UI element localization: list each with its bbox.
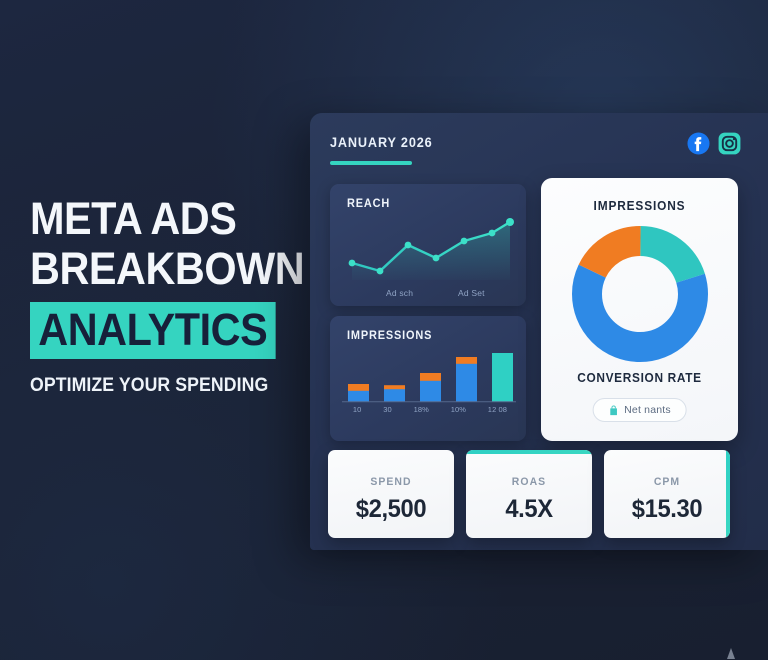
stat-card-cpm[interactable]: CPM $15.30 [604,450,730,538]
reach-card-title: REACH [347,198,390,210]
donut-card-subtitle: CONVERSION RATE [546,371,733,385]
donut-card-title: IMPRESSIONS [546,199,733,213]
conversion-donut-card: IMPRESSIONS CONVERSION RATE Net nants [541,178,738,441]
headline-highlight-wrap: ANALYTICS [30,302,298,359]
headline-highlight: ANALYTICS [30,302,276,359]
period-label: JANUARY 2026 [330,135,433,150]
impressions-bar-card: IMPRESSIONS 10 30 18% 10% 12 08 [330,316,526,441]
donut-chart [570,224,710,364]
reach-line-chart [338,214,518,286]
stat-value-spend: $2,500 [331,495,451,524]
roas-accent-bar [466,450,592,454]
bar-label-2: 18% [414,405,429,414]
dashboard-panel: JANUARY 2026 REACH [310,113,768,550]
impressions-bar-labels: 10 30 18% 10% 12 08 [342,405,518,414]
headline-block: META ADS BREAKBOWN ANALYTICS OPTIMIZE YO… [30,196,298,397]
headline-line-2: BREAKBOWN [30,246,277,292]
stat-value-roas: 4.5X [469,495,589,524]
headline-subtitle: OPTIMIZE YOUR SPENDING [30,375,279,397]
stat-value-cpm: $15.30 [607,495,727,524]
bar-label-1: 30 [383,405,392,414]
net-nants-label: Net nants [624,404,671,416]
stat-card-roas[interactable]: ROAS 4.5X [466,450,592,538]
reach-axis-label-1: Ad sch [386,288,413,298]
period-underline [330,161,412,165]
bar-label-3: 10% [451,405,466,414]
headline-line-1: META ADS [30,196,277,242]
instagram-icon[interactable] [718,132,741,155]
dashboard-header: JANUARY 2026 [330,134,750,178]
facebook-icon[interactable] [687,132,710,155]
cpm-accent-bar [726,450,730,538]
bar-label-0: 10 [353,405,362,414]
bar-label-4: 12 08 [488,405,507,414]
impressions-bar-chart [340,350,516,404]
social-icons-group [687,132,741,155]
stat-label-spend: SPEND [331,476,451,488]
stat-label-cpm: CPM [607,476,727,488]
reach-axis-label-2: Ad Set [458,288,485,298]
stat-card-spend[interactable]: SPEND $2,500 [328,450,454,538]
stat-label-roas: ROAS [469,476,589,488]
cursor-pointer [727,648,735,659]
reach-card: REACH Ad sch Ad Set [330,184,526,306]
bag-icon [608,405,618,416]
net-nants-button[interactable]: Net nants [592,398,687,422]
impressions-bar-card-title: IMPRESSIONS [347,330,432,342]
